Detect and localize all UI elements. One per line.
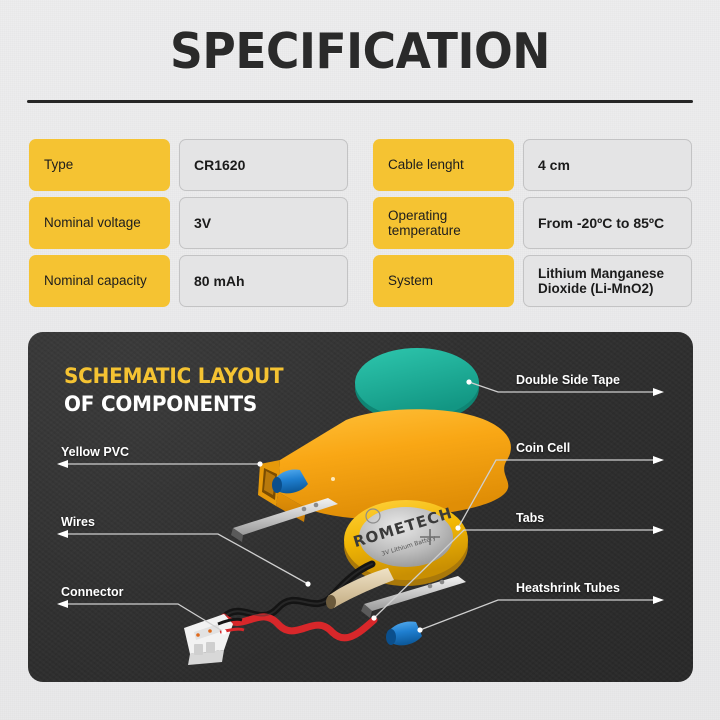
spec-value: CR1620	[179, 139, 348, 191]
callout-tabs: Tabs	[516, 511, 544, 525]
spec-column-right: Cable lenght 4 cm Operating temperature …	[373, 139, 692, 307]
leader-tabs	[374, 530, 657, 618]
callout-heatshrink-tubes: Heatshrink Tubes	[516, 581, 620, 595]
spec-label: Nominal capacity	[29, 255, 170, 307]
leader-endpoint-dots	[221, 379, 471, 634]
page-title: SPECIFICATION	[25, 26, 695, 78]
spec-value: From -20ºC to 85ºC	[523, 197, 692, 249]
spec-value: Lithium Manganese Dioxide (Li-MnO2)	[523, 255, 692, 307]
spec-row: Nominal voltage 3V	[29, 197, 348, 249]
spec-value: 3V	[179, 197, 348, 249]
spec-row: Type CR1620	[29, 139, 348, 191]
spec-label: System	[373, 255, 514, 307]
spec-label: Nominal voltage	[29, 197, 170, 249]
spec-value: 80 mAh	[179, 255, 348, 307]
spec-label: Cable lenght	[373, 139, 514, 191]
leader-coin-cell	[458, 460, 657, 528]
callout-double-side-tape: Double Side Tape	[516, 373, 620, 387]
title-divider	[27, 100, 693, 103]
leader-arrowheads	[57, 388, 664, 608]
leader-heatshrink	[420, 600, 657, 630]
callout-coin-cell: Coin Cell	[516, 441, 570, 455]
spec-row: System Lithium Manganese Dioxide (Li-MnO…	[373, 255, 692, 307]
spec-row: Cable lenght 4 cm	[373, 139, 692, 191]
leader-connector	[64, 604, 224, 632]
spec-label: Type	[29, 139, 170, 191]
spec-row: Nominal capacity 80 mAh	[29, 255, 348, 307]
schematic-panel: SCHEMATIC LAYOUT OF COMPONENTS	[28, 332, 693, 682]
spec-row: Operating temperature From -20ºC to 85ºC	[373, 197, 692, 249]
spec-label: Operating temperature	[373, 197, 514, 249]
leader-wires	[64, 534, 308, 584]
spec-column-left: Type CR1620 Nominal voltage 3V Nominal c…	[29, 139, 348, 307]
callout-wires: Wires	[61, 515, 95, 529]
specification-table: Type CR1620 Nominal voltage 3V Nominal c…	[29, 139, 692, 307]
callout-yellow-pvc: Yellow PVC	[61, 445, 129, 459]
spec-value: 4 cm	[523, 139, 692, 191]
callout-connector: Connector	[61, 585, 124, 599]
infographic-page: SPECIFICATION Type CR1620 Nominal voltag…	[0, 0, 720, 720]
